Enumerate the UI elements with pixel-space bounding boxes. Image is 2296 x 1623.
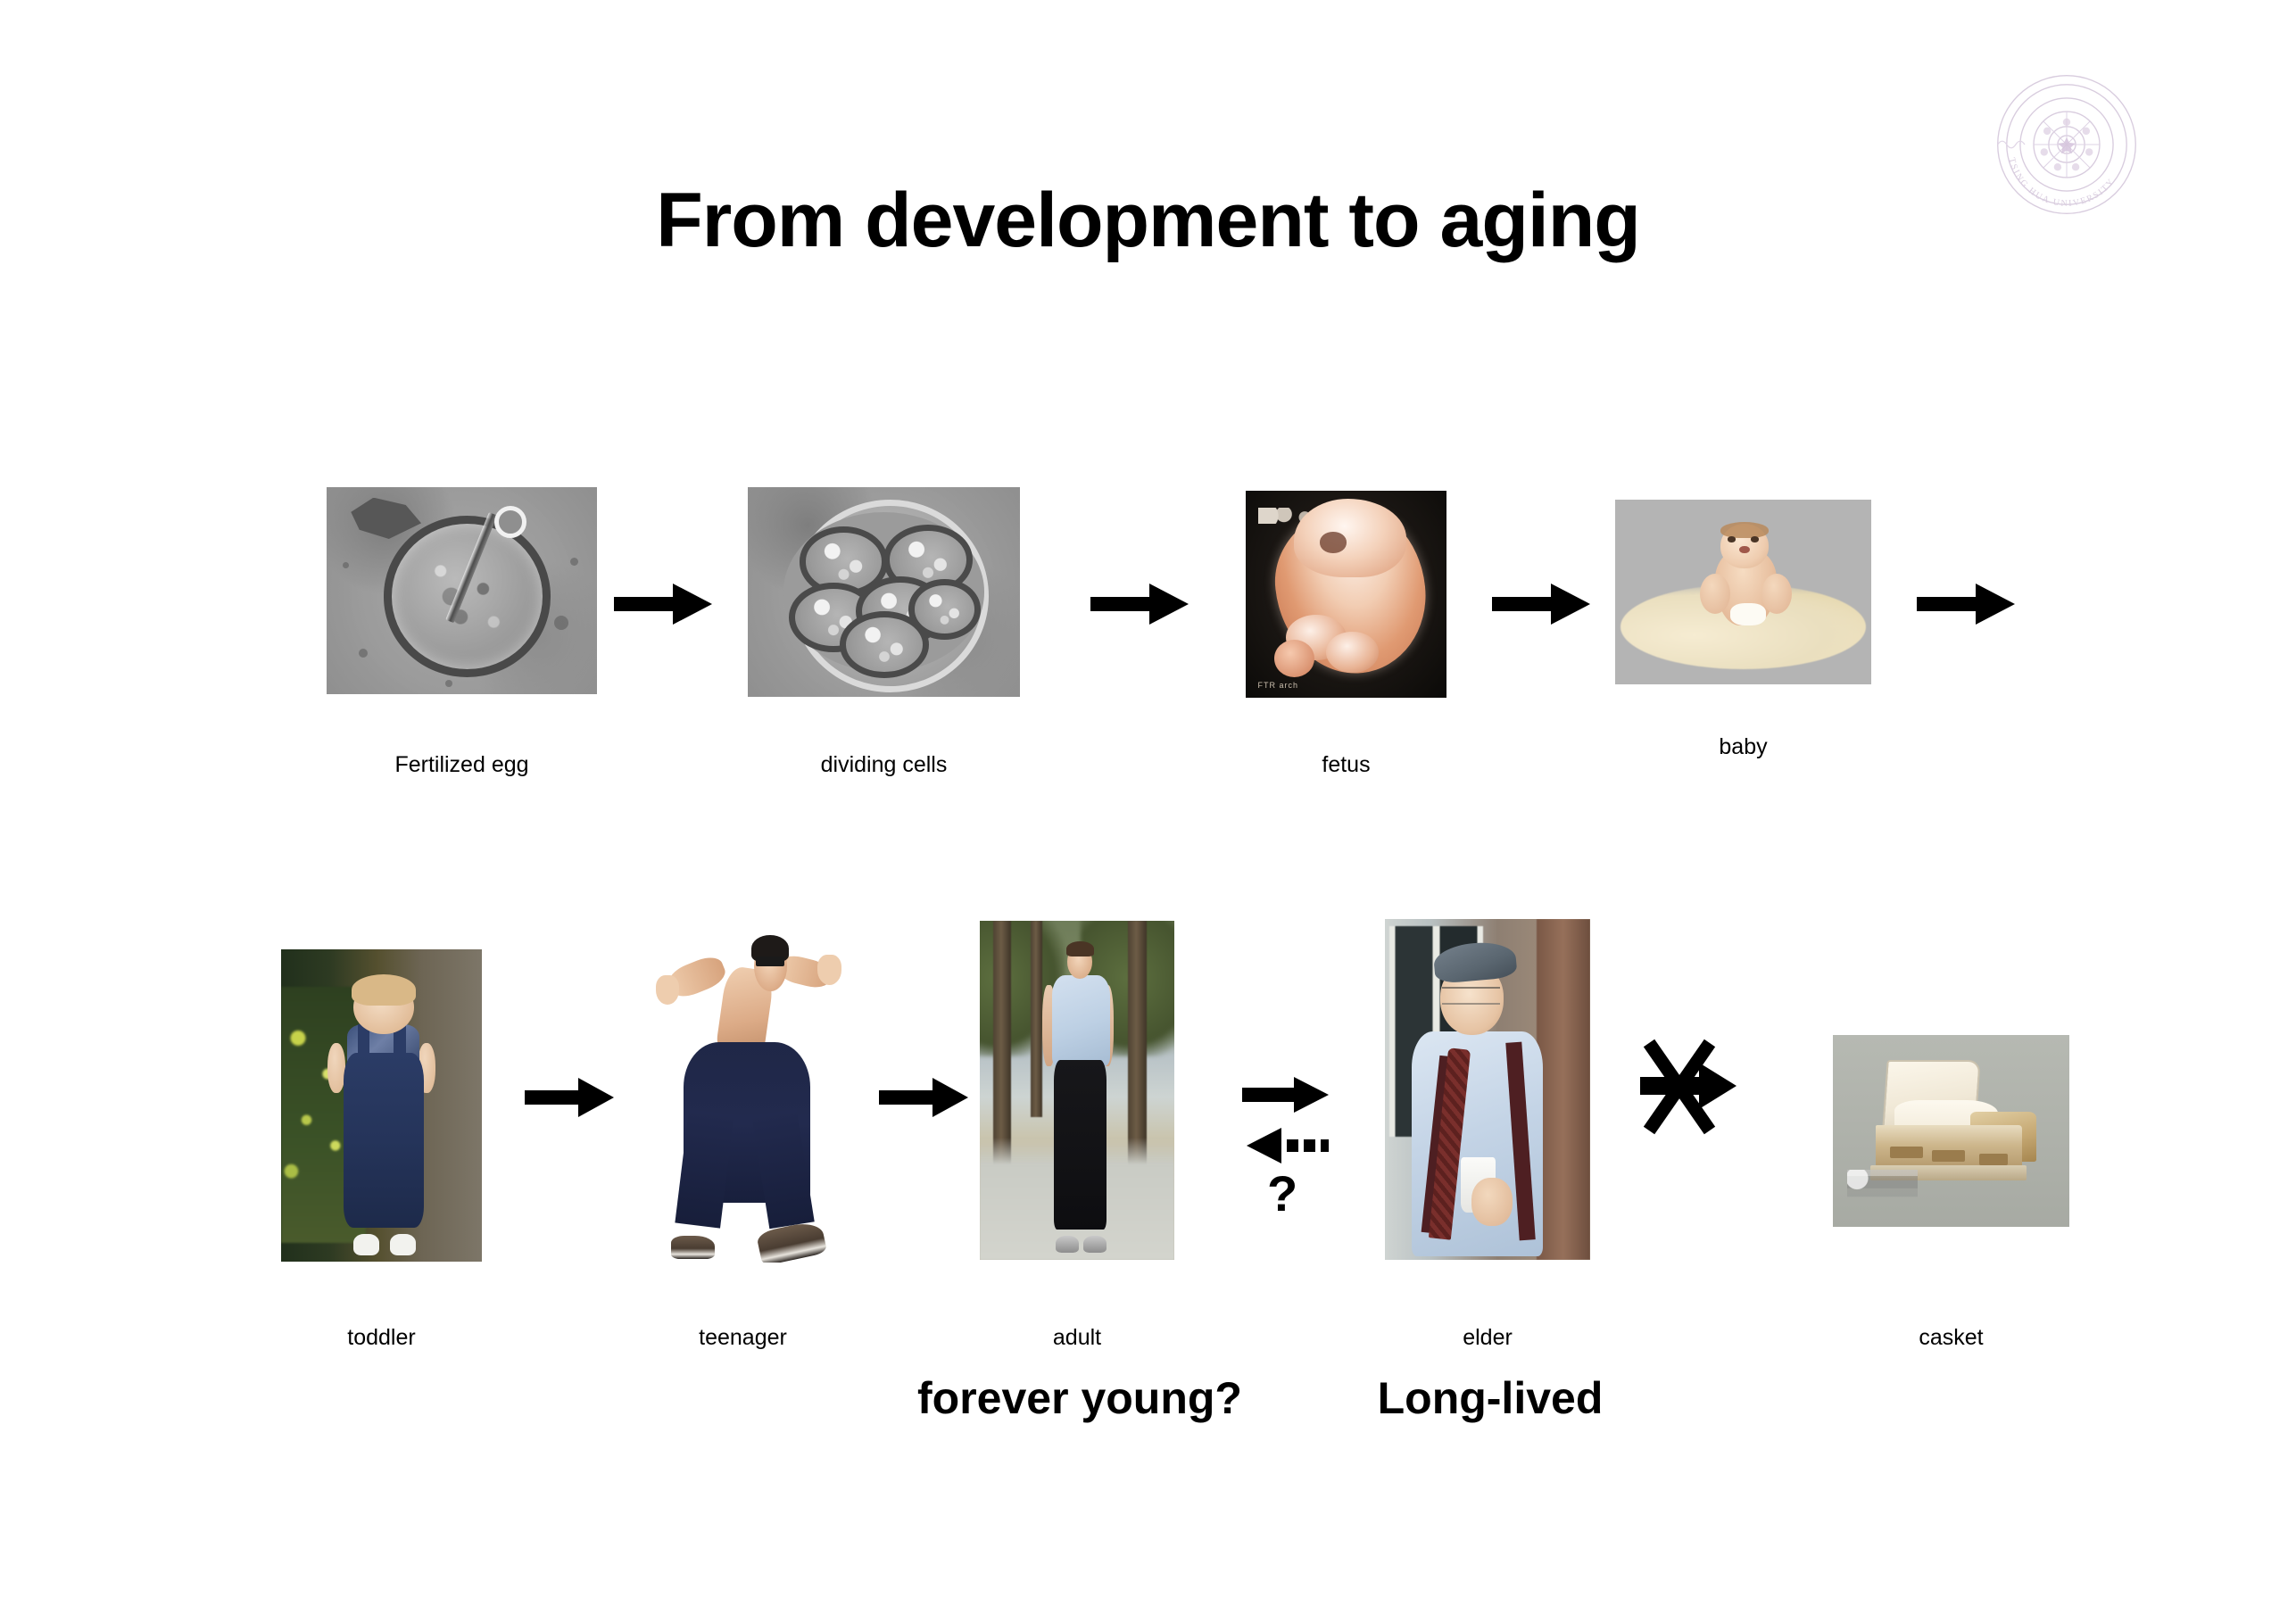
long-lived-annotation: Long-lived bbox=[1330, 1372, 1651, 1424]
arrow-right-icon bbox=[879, 1075, 968, 1120]
stage-label-fertilized-egg: Fertilized egg bbox=[327, 752, 597, 778]
arrow-right-icon bbox=[614, 580, 712, 628]
stage-label-fetus: fetus bbox=[1246, 752, 1446, 778]
question-mark-annotation: ? bbox=[1267, 1164, 1297, 1222]
stage-image-casket bbox=[1833, 1035, 2069, 1227]
arrow-right-icon bbox=[1242, 1075, 1329, 1114]
stage-label-toddler: toddler bbox=[281, 1325, 482, 1351]
stage-image-elder bbox=[1385, 919, 1590, 1260]
slide-canvas: TSING HUA UNIVERSITY From development to… bbox=[0, 0, 2296, 1623]
stage-label-baby: baby bbox=[1615, 734, 1871, 760]
arrow-right-icon bbox=[1917, 580, 2015, 628]
stage-image-baby bbox=[1615, 500, 1871, 684]
stage-label-dividing-cells: dividing cells bbox=[748, 752, 1020, 778]
stage-image-dividing-cells bbox=[748, 487, 1020, 697]
stage-image-fertilized-egg bbox=[327, 487, 597, 694]
stage-label-elder: elder bbox=[1385, 1325, 1590, 1351]
stage-image-teenager bbox=[634, 928, 852, 1263]
stage-image-adult bbox=[980, 921, 1174, 1260]
crossed-out-arrow-icon bbox=[1629, 1031, 1742, 1143]
stage-label-casket: casket bbox=[1833, 1325, 2069, 1351]
arrow-right-icon bbox=[1090, 580, 1189, 628]
arrow-right-icon bbox=[525, 1075, 614, 1120]
stage-label-adult: adult bbox=[980, 1325, 1174, 1351]
forever-young-annotation: forever young? bbox=[892, 1372, 1267, 1424]
stage-image-toddler bbox=[281, 949, 482, 1262]
arrow-right-icon bbox=[1492, 580, 1590, 628]
stage-label-teenager: teenager bbox=[634, 1325, 852, 1351]
page-title: From development to aging bbox=[0, 177, 2296, 265]
stage-image-fetus: FTR arch bbox=[1246, 491, 1446, 698]
arrow-left-dashed-icon bbox=[1242, 1126, 1329, 1165]
